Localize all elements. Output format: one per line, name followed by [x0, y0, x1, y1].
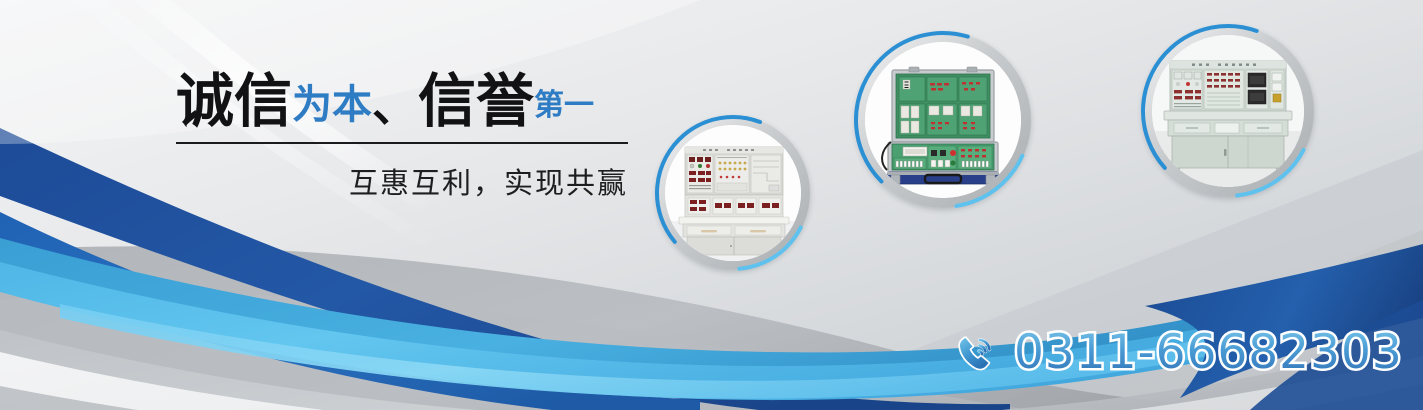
headline-part-chengxin: 诚信 [176, 67, 292, 135]
promotional-banner: 诚信为本、信誉第一 互惠互利，实现共赢 [0, 0, 1423, 410]
headline: 诚信为本、信誉第一 [176, 72, 636, 130]
headline-part-diyi: 第一 [534, 88, 594, 123]
contact-block[interactable]: 0311-66682303 0311-66682303 [952, 325, 1403, 380]
phone-call-icon[interactable] [952, 329, 1000, 377]
headline-part-comma: 、 [372, 78, 418, 132]
product-circle-1[interactable] [656, 116, 810, 270]
headline-part-xinyu: 信誉 [418, 67, 534, 135]
test-bench-illustration [1152, 35, 1304, 187]
headline-part-weiben: 为本 [292, 82, 372, 128]
headline-divider [176, 142, 628, 144]
subtitle: 互惠互利，实现共赢 [176, 160, 628, 202]
product-circle-2[interactable] [855, 32, 1031, 208]
circle-photo-1 [665, 125, 801, 261]
phone-number[interactable]: 0311-66682303 [1014, 325, 1403, 380]
circle-photo-2 [865, 42, 1021, 198]
product-circle-3[interactable] [1142, 25, 1314, 197]
workbench-illustration-1 [665, 125, 801, 261]
phone-number-wrap[interactable]: 0311-66682303 0311-66682303 [1014, 325, 1403, 380]
circle-photo-3 [1152, 35, 1304, 187]
experiment-case-illustration [865, 42, 1021, 198]
slogan-block: 诚信为本、信誉第一 互惠互利，实现共赢 [176, 72, 636, 202]
